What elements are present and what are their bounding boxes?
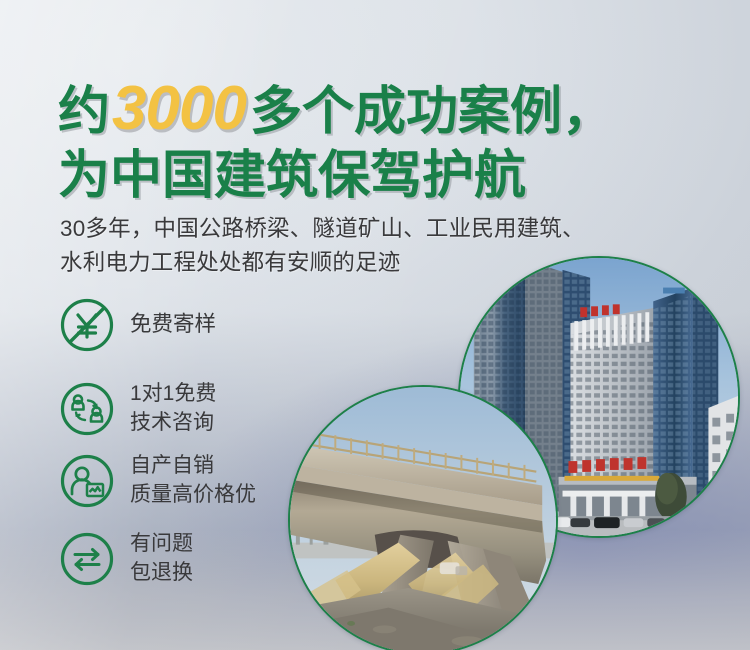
feature-label-line-1: 1对1免费	[130, 380, 216, 409]
feature-list: 免费寄样 1对1免费	[58, 296, 328, 604]
subheading-line-1: 30多年，中国公路桥梁、隧道矿山、工业民用建筑、	[60, 212, 732, 246]
headline-prefix: 约	[58, 83, 110, 141]
feature-item-consult: 1对1免费 技术咨询	[58, 380, 328, 438]
feature-item-free-sample: 免费寄样	[58, 296, 328, 354]
feature-label-return-exchange: 有问题 包退换	[130, 530, 193, 588]
one-on-one-consult-icon	[58, 380, 116, 438]
feature-label-consult: 1对1免费 技术咨询	[130, 380, 216, 438]
feature-label-free-sample: 免费寄样	[130, 310, 216, 340]
feature-item-self-produce: 自产自销 质量高价格优	[58, 452, 328, 510]
headline-line-2: 为中国建筑保驾护航	[58, 150, 718, 202]
concrete-bridge-viaduct-photo	[288, 385, 558, 650]
feature-label-self-produce: 自产自销 质量高价格优	[130, 452, 256, 510]
self-produce-sell-icon	[58, 452, 116, 510]
feature-label-line-1: 自产自销	[130, 452, 256, 481]
free-sample-icon	[58, 296, 116, 354]
feature-label-line-1: 有问题	[130, 530, 193, 559]
promo-banner: 约3000多个成功案例， 为中国建筑保驾护航 30多年，中国公路桥梁、隧道矿山、…	[0, 0, 750, 650]
feature-label-line-2: 包退换	[130, 559, 193, 588]
feature-label-line-1: 免费寄样	[130, 310, 216, 340]
feature-item-return-exchange: 有问题 包退换	[58, 530, 328, 588]
headline-line-1: 约3000多个成功案例，	[58, 78, 718, 140]
return-exchange-icon	[58, 530, 116, 588]
page-title: 约3000多个成功案例， 为中国建筑保驾护航	[58, 78, 718, 202]
feature-label-line-2: 技术咨询	[130, 409, 216, 438]
headline-number: 3000	[110, 74, 250, 143]
feature-label-line-2: 质量高价格优	[130, 481, 256, 510]
bridge-photo-art	[290, 387, 556, 650]
headline-suffix: 多个成功案例，	[250, 83, 614, 141]
